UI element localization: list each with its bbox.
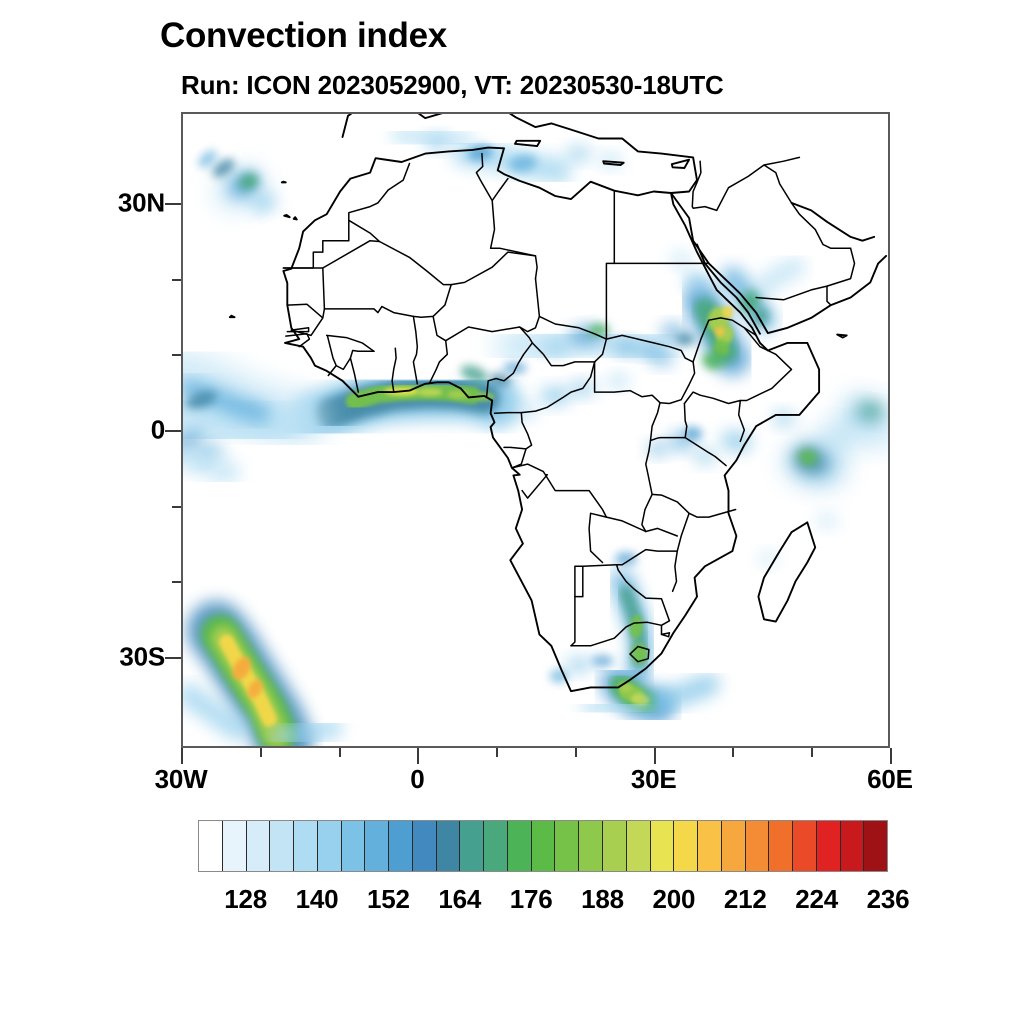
colorbar-cell — [555, 821, 579, 871]
convection-blobs — [181, 135, 890, 741]
colorbar-cell — [199, 821, 223, 871]
y-axis-tick — [165, 430, 181, 432]
x-axis-label: 30E — [631, 764, 677, 795]
y-axis-tick — [172, 506, 181, 508]
x-axis-label: 30W — [155, 764, 208, 795]
y-axis-tick — [165, 657, 181, 659]
x-axis-tick — [811, 748, 813, 757]
y-axis-label: 0 — [151, 415, 165, 446]
convection-index-figure: Convection index Run: ICON 2023052900, V… — [0, 0, 1024, 1024]
colorbar-cell — [223, 821, 247, 871]
colorbar-cells — [198, 820, 888, 872]
x-axis-label: 60E — [867, 764, 913, 795]
x-axis-label: 0 — [410, 764, 424, 795]
x-axis-tick — [260, 748, 262, 757]
colorbar-cell — [389, 821, 413, 871]
colorbar-tick-label: 212 — [724, 884, 767, 915]
convection-index-field — [181, 112, 890, 748]
colorbar-tick-label: 128 — [224, 884, 267, 915]
colorbar-cell — [817, 821, 841, 871]
colorbar-tick-label: 224 — [795, 884, 838, 915]
y-axis-tick — [165, 203, 181, 205]
colorbar-cell — [318, 821, 342, 871]
colorbar-cell — [746, 821, 770, 871]
y-axis-label: 30N — [118, 187, 165, 218]
x-axis-tick — [496, 748, 498, 757]
x-axis-tick — [575, 748, 577, 757]
colorbar-cell — [413, 821, 437, 871]
x-axis-tick — [339, 748, 341, 757]
colorbar-cell — [651, 821, 675, 871]
x-axis-tick — [890, 748, 892, 764]
colorbar-cell — [769, 821, 793, 871]
x-axis-tick — [417, 748, 419, 764]
colorbar-cell — [484, 821, 508, 871]
colorbar-cell — [270, 821, 294, 871]
colorbar-tick-label: 200 — [652, 884, 695, 915]
x-axis-tick — [654, 748, 656, 764]
colorbar-tick-label: 188 — [581, 884, 624, 915]
colorbar-cell — [508, 821, 532, 871]
colorbar-tick-label: 176 — [510, 884, 553, 915]
colorbar-cell — [437, 821, 461, 871]
colorbar-cell — [627, 821, 651, 871]
colorbar-cell — [247, 821, 271, 871]
page-title: Convection index — [160, 16, 447, 56]
x-axis-tick — [181, 748, 183, 764]
colorbar-cell — [342, 821, 366, 871]
colorbar-cell — [841, 821, 865, 871]
colorbar-cell — [365, 821, 389, 871]
colorbar — [198, 820, 888, 872]
colorbar-cell — [460, 821, 484, 871]
y-axis-tick — [172, 279, 181, 281]
colorbar-tick-label: 140 — [296, 884, 339, 915]
colorbar-cell — [864, 821, 887, 871]
colorbar-cell — [793, 821, 817, 871]
colorbar-cell — [674, 821, 698, 871]
colorbar-cell — [698, 821, 722, 871]
map-panel — [181, 112, 890, 748]
y-axis-tick — [172, 581, 181, 583]
colorbar-cell — [579, 821, 603, 871]
colorbar-cell — [603, 821, 627, 871]
colorbar-cell — [722, 821, 746, 871]
colorbar-tick-label: 236 — [867, 884, 910, 915]
y-axis-tick — [172, 354, 181, 356]
colorbar-tick-label: 152 — [367, 884, 410, 915]
colorbar-cell — [294, 821, 318, 871]
run-valid-time-subtitle: Run: ICON 2023052900, VT: 20230530-18UTC — [181, 70, 724, 101]
colorbar-tick-label: 164 — [438, 884, 481, 915]
x-axis-tick — [732, 748, 734, 757]
y-axis-label: 30S — [119, 642, 165, 673]
colorbar-cell — [532, 821, 556, 871]
